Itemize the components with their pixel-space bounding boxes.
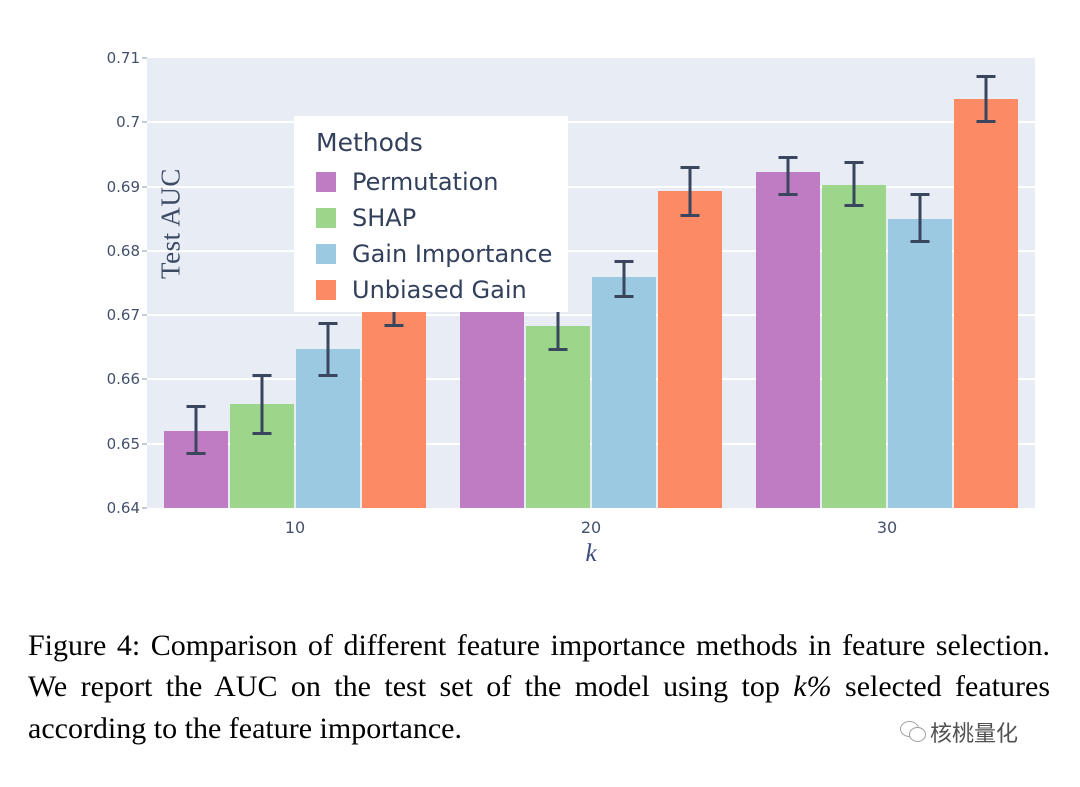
error-bar-stem	[853, 161, 856, 207]
y-tick-label: 0.65	[107, 435, 140, 453]
y-tick-mark	[142, 186, 147, 188]
legend-swatch-icon	[316, 208, 336, 228]
error-bar-stem	[787, 156, 790, 196]
error-bar-cap-top	[253, 374, 272, 377]
figure-4: 0.640.650.660.670.680.690.70.71 102030 T…	[0, 0, 1080, 787]
x-axis-title: k	[147, 540, 1035, 568]
error-bar-cap-bottom	[615, 295, 634, 298]
bar-unbiased-gain-k30	[954, 99, 1018, 508]
x-tick-label: 30	[877, 518, 897, 537]
bar-gain-importance-k30	[888, 219, 952, 508]
y-tick-label: 0.69	[107, 178, 140, 196]
y-tick-mark	[142, 507, 147, 509]
legend-swatch-icon	[316, 280, 336, 300]
error-bar-cap-top	[319, 322, 338, 325]
error-bar-cap-bottom	[779, 193, 798, 196]
error-bar-cap-bottom	[911, 240, 930, 243]
error-bar-stem	[689, 166, 692, 217]
caption-math: k%	[793, 670, 831, 703]
error-bar-cap-bottom	[187, 452, 206, 455]
legend-item-label: Unbiased Gain	[352, 278, 527, 302]
error-bar-cap-bottom	[977, 120, 996, 123]
error-bar-cap-bottom	[681, 214, 700, 217]
y-tick-mark	[142, 57, 147, 59]
y-tick-label: 0.7	[116, 113, 140, 131]
error-bar-stem	[985, 75, 988, 123]
error-bar-cap-top	[977, 75, 996, 78]
y-tick-mark	[142, 378, 147, 380]
y-tick-label: 0.64	[107, 499, 140, 517]
error-bar-cap-top	[911, 193, 930, 196]
legend-item-unbiased-gain[interactable]: Unbiased Gain	[316, 272, 568, 308]
legend-item-permutation[interactable]: Permutation	[316, 164, 568, 200]
bar-permutation-k30	[756, 172, 820, 508]
x-tick-label: 20	[581, 518, 601, 537]
bar-shap-k20	[526, 326, 590, 508]
y-tick-label: 0.67	[107, 306, 140, 324]
legend-item-label: Gain Importance	[352, 242, 552, 266]
caption-prefix: Figure 4:	[28, 629, 140, 662]
error-bar-stem	[623, 260, 626, 299]
gridline	[147, 186, 1035, 188]
legend-items: PermutationSHAPGain ImportanceUnbiased G…	[316, 164, 568, 308]
error-bar-cap-top	[779, 156, 798, 159]
legend-item-gain-importance[interactable]: Gain Importance	[316, 236, 568, 272]
chart-legend: Methods PermutationSHAPGain ImportanceUn…	[294, 116, 568, 312]
error-bar-cap-top	[615, 260, 634, 263]
y-tick-mark	[142, 314, 147, 316]
bar-unbiased-gain-k10	[362, 301, 426, 508]
legend-item-label: Permutation	[352, 170, 499, 194]
error-bar-cap-bottom	[319, 374, 338, 377]
y-tick-label: 0.71	[107, 49, 140, 67]
x-tick-label: 10	[285, 518, 305, 537]
y-tick-label: 0.68	[107, 242, 140, 260]
legend-swatch-icon	[316, 244, 336, 264]
y-tick-mark	[142, 443, 147, 445]
bar-shap-k30	[822, 185, 886, 508]
gridline	[147, 121, 1035, 123]
legend-title: Methods	[316, 126, 568, 160]
error-bar-cap-top	[845, 161, 864, 164]
y-tick-mark	[142, 121, 147, 123]
error-bar-cap-top	[187, 405, 206, 408]
error-bar-stem	[195, 405, 198, 455]
error-bar-stem	[261, 374, 264, 435]
legend-item-shap[interactable]: SHAP	[316, 200, 568, 236]
error-bar-stem	[919, 193, 922, 243]
error-bar-cap-top	[681, 166, 700, 169]
bar-gain-importance-k20	[592, 277, 656, 508]
y-axis-title: Test AUC	[156, 134, 187, 314]
error-bar-cap-bottom	[549, 348, 568, 351]
bar-unbiased-gain-k20	[658, 191, 722, 508]
chart-plot-area: 0.640.650.660.670.680.690.70.71 102030 T…	[147, 58, 1035, 508]
y-tick-mark	[142, 250, 147, 252]
y-tick-label: 0.66	[107, 370, 140, 388]
figure-caption: Figure 4: Comparison of different featur…	[28, 625, 1050, 749]
legend-swatch-icon	[316, 172, 336, 192]
legend-item-label: SHAP	[352, 206, 416, 230]
error-bar-stem	[327, 322, 330, 377]
error-bar-cap-bottom	[845, 204, 864, 207]
error-bar-cap-bottom	[253, 432, 272, 435]
error-bar-cap-bottom	[385, 324, 404, 327]
